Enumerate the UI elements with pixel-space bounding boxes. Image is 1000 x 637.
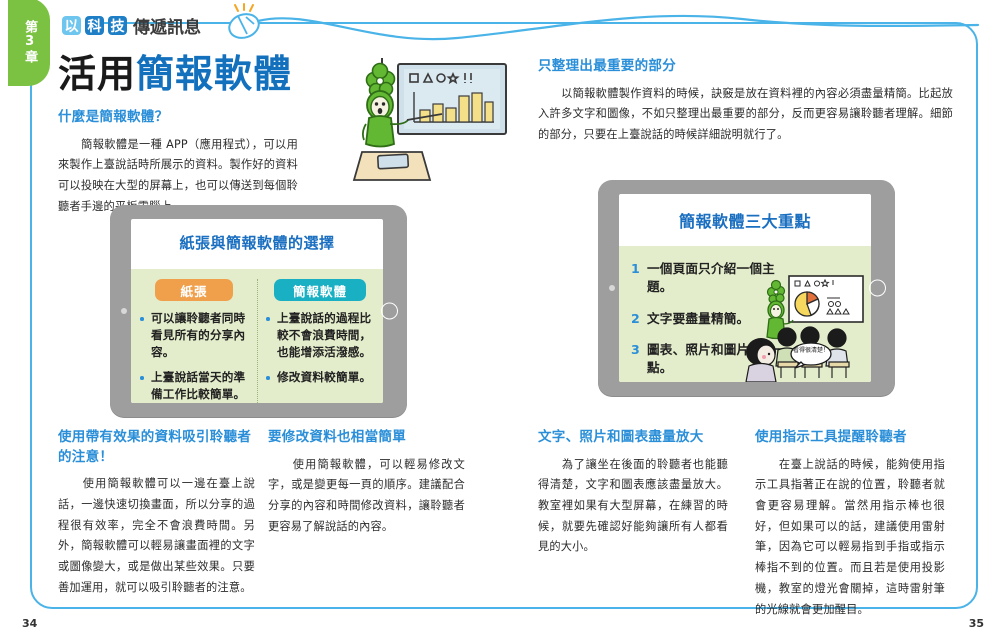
tablet-right-slide-body: 1 一個頁面只介紹一個主題。 2 文字要盡量精簡。 3 圖表、照片和圖片要大一點… xyxy=(619,246,871,382)
tablet-left-slide-title: 紙張與簡報軟體的選擇 xyxy=(131,219,383,264)
section-pointer-body: 在臺上說話的時候，能夠使用指示工具指著正在說的位置，聆聽者就會更容易理解。當然用… xyxy=(755,455,945,621)
chapter-tab: 第3章 xyxy=(8,0,50,86)
podium xyxy=(354,152,430,180)
tablet-on-podium xyxy=(378,154,409,169)
section-easy-edit-body: 使用簡報軟體，可以輕易修改文字，或是變更每一頁的順序。建議配合分享的內容和時間修… xyxy=(268,455,465,538)
tablet-right-home-button[interactable] xyxy=(869,280,886,297)
pie-chart-board xyxy=(789,276,863,322)
chapter-tab-label: 第3章 xyxy=(21,20,37,64)
list-item: 可以讓聆聽者同時看見所有的分享內容。 xyxy=(140,310,248,360)
section-pointer-heading: 使用指示工具提醒聆聽者 xyxy=(755,428,945,448)
kicker-box-1: 以 xyxy=(62,16,81,35)
section-enlarge: 文字、照片和圖表盡量放大 為了讓坐在後面的聆聽者也能聽得清楚，文字和圖表應該盡量… xyxy=(538,428,728,558)
page-number-right: 35 xyxy=(969,617,984,630)
tablet-right: 簡報軟體三大重點 1 一個頁面只介紹一個主題。 2 文字要盡量精簡。 3 圖表、… xyxy=(598,180,895,396)
section-enlarge-heading: 文字、照片和圖表盡量放大 xyxy=(538,428,728,448)
section-enlarge-body: 為了讓坐在後面的聆聽者也能聽得清楚，文字和圖表應該盡量放大。教室裡如果有大型屏幕… xyxy=(538,455,728,559)
illustration-classroom: 看得很清楚！ xyxy=(745,274,867,382)
tablet-left-slide-body: 紙張 可以讓聆聽者同時看見所有的分享內容。 上臺說話當天的準備工作比較簡單。 簡… xyxy=(131,269,383,403)
section-only-important: 只整理出最重要的部分 以簡報軟體製作資料的時候，訣竅是放在資料裡的內容必須盡量精… xyxy=(538,57,953,146)
computer-mouse-icon xyxy=(226,10,262,41)
tablet-left-home-button[interactable] xyxy=(381,303,398,320)
tablet-right-camera-icon xyxy=(609,285,615,291)
tablet-right-screen: 簡報軟體三大重點 1 一個頁面只介紹一個主題。 2 文字要盡量精簡。 3 圖表、… xyxy=(619,194,871,382)
section-kicker: 以 科 技 傳遞訊息 xyxy=(62,13,201,38)
tablet-left-column-paper: 紙張 可以讓聆聽者同時看見所有的分享內容。 上臺說話當天的準備工作比較簡單。 xyxy=(140,279,257,403)
list-item: 上臺說話當天的準備工作比較簡單。 xyxy=(140,369,248,403)
section-effects: 使用帶有效果的資料吸引聆聽者的注意！ 使用簡報軟體可以一邊在臺上說話，一邊快速切… xyxy=(58,428,255,598)
list-item: 修改資料較簡單。 xyxy=(266,369,374,386)
section-effects-body: 使用簡報軟體可以一邊在臺上說話，一邊快速切換畫面，所以分享的過程很有效率，完全不… xyxy=(58,474,255,598)
tablet-left-screen: 紙張與簡報軟體的選擇 紙張 可以讓聆聽者同時看見所有的分享內容。 上臺說話當天的… xyxy=(131,219,383,403)
section-pointer: 使用指示工具提醒聆聽者 在臺上說話的時候，能夠使用指示工具指著正在說的位置，聆聽… xyxy=(755,428,945,620)
mouse-cable xyxy=(258,16,978,39)
list-item-number: 2 xyxy=(631,310,640,328)
section-only-important-heading: 只整理出最重要的部分 xyxy=(538,57,953,77)
section-what-is-heading: 什麼是簡報軟體？ xyxy=(58,108,298,128)
sparkle-icon xyxy=(235,4,253,11)
mouse-doodle xyxy=(222,2,982,48)
pill-software: 簡報軟體 xyxy=(274,279,366,301)
page-title-blue: 簡報軟體 xyxy=(136,52,292,96)
kicker-box-2: 科 xyxy=(85,16,104,35)
pill-paper: 紙張 xyxy=(155,279,233,301)
tablet-left-camera-icon xyxy=(121,308,127,314)
kicker-plain-text: 傳遞訊息 xyxy=(133,13,201,38)
page-title-black: 活用 xyxy=(58,52,136,96)
section-easy-edit: 要修改資料也相當簡單 使用簡報軟體，可以輕易修改文字，或是變更每一頁的順序。建議… xyxy=(268,428,465,537)
list-item-number: 1 xyxy=(631,260,640,278)
section-effects-heading: 使用帶有效果的資料吸引聆聽者的注意！ xyxy=(58,428,255,467)
section-only-important-body: 以簡報軟體製作資料的時候，訣竅是放在資料裡的內容必須盡量精簡。比起放入許多文字和… xyxy=(538,84,953,146)
tablet-left: 紙張與簡報軟體的選擇 紙張 可以讓聆聽者同時看見所有的分享內容。 上臺說話當天的… xyxy=(110,205,407,417)
section-easy-edit-heading: 要修改資料也相當簡單 xyxy=(268,428,465,448)
section-what-is: 什麼是簡報軟體？ 簡報軟體是一種 APP（應用程式），可以用來製作上臺說話時所展… xyxy=(58,108,298,217)
page-number-left: 34 xyxy=(22,617,37,630)
tablet-right-slide-title: 簡報軟體三大重點 xyxy=(619,194,871,244)
column-divider xyxy=(257,279,258,403)
list-item-number: 3 xyxy=(631,341,640,359)
textbook-spread: 第3章 以 科 技 傳遞訊息 活用簡報軟體 xyxy=(0,0,1000,637)
kicker-box-3: 技 xyxy=(108,16,127,35)
page-title: 活用簡報軟體 xyxy=(58,55,292,93)
tablet-left-column-software: 簡報軟體 上臺說話的過程比較不會浪費時間，也能增添活潑感。 修改資料較簡單。 xyxy=(257,279,374,403)
list-item: 上臺說話的過程比較不會浪費時間，也能增添活潑感。 xyxy=(266,310,374,360)
illustration-presenter xyxy=(320,52,520,192)
speech-bubble-text: 看得很清楚！ xyxy=(793,346,829,354)
list-item-text: 文字要盡量精簡。 xyxy=(647,311,749,326)
